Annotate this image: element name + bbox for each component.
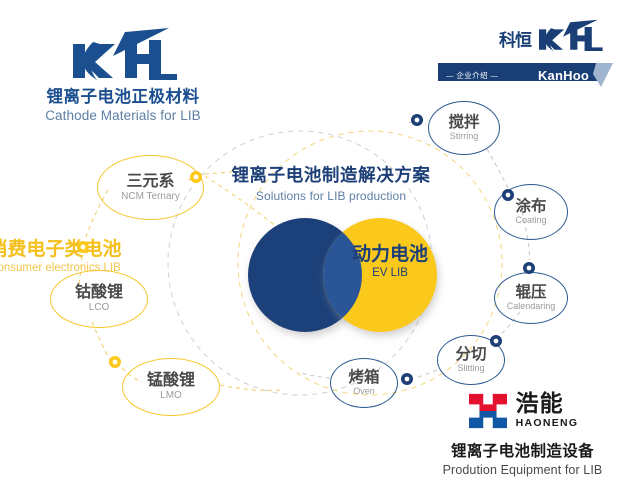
brand-cathode: 锂离子电池正极材料 Cathode Materials for LIB	[28, 26, 218, 124]
node-label-en: Oven	[353, 387, 375, 396]
node-label-en: LCO	[89, 303, 110, 313]
node-label-en: Slitting	[457, 364, 484, 373]
node-process-coating[interactable]: 涂布Coating	[494, 184, 568, 240]
node-label-cn: 搅拌	[448, 115, 479, 131]
venn-label-consumer-cn: 消费电子类电池	[0, 239, 200, 261]
node-label-en: Calendaring	[507, 302, 556, 311]
venn-label-ev-cn: 动力电池	[330, 244, 450, 266]
node-label-cn: 分切	[455, 347, 486, 363]
node-label-en: Coating	[515, 216, 546, 225]
node-label-en: LMO	[160, 391, 182, 401]
page-title-en: Solutions for LIB production	[216, 189, 446, 203]
node-process-stirring[interactable]: 搅拌Stirring	[428, 101, 500, 155]
node-label-en: Stirring	[450, 132, 479, 141]
haoneng-logo-icon	[467, 392, 509, 430]
node-label-cn: 涂布	[515, 199, 546, 215]
node-label-en: NCM Ternary	[121, 192, 180, 202]
brand-cathode-en: Cathode Materials for LIB	[28, 108, 218, 124]
venn-label-ev-en: EV LIB	[330, 267, 450, 281]
haoneng-cn-mark: 浩能	[516, 393, 579, 416]
brand-kanhoo: 科恒 — 企业介绍 — KanHoo	[438, 18, 613, 90]
node-label-cn: 辊压	[515, 285, 546, 301]
node-process-calendaring[interactable]: 辊压Calendaring	[494, 272, 568, 324]
kanhoo-ribbon	[438, 60, 613, 90]
haoneng-logo-row: 浩能 HAONENG	[430, 392, 615, 430]
node-label-cn: 锰酸锂	[147, 373, 195, 389]
haoneng-en-mark: HAONENG	[516, 418, 579, 429]
kanhoo-cn-mark: 科恒	[499, 26, 531, 51]
connector-oven-to-left	[298, 372, 330, 378]
node-material-lmo[interactable]: 锰酸锂LMO	[122, 358, 220, 416]
connector-slitting-to-oven	[415, 370, 437, 378]
brand-haoneng-cn: 锂离子电池制造设备	[430, 439, 615, 461]
connector-title-to-stirring	[409, 122, 426, 124]
node-label-cn: 三元系	[126, 174, 174, 190]
page-title: 锂离子电池制造解决方案 Solutions for LIB production	[216, 162, 446, 203]
node-label-cn: 烤箱	[348, 370, 379, 386]
node-material-lco[interactable]: 钴酸锂LCO	[50, 270, 148, 328]
brand-haoneng: 浩能 HAONENG 锂离子电池制造设备 Prodution Equipment…	[430, 392, 615, 477]
node-label-cn: 钴酸锂	[75, 285, 123, 301]
brand-haoneng-en: Prodution Equipment for LIB	[430, 463, 615, 477]
page-title-cn: 锂离子电池制造解决方案	[216, 162, 446, 187]
node-material-ncm-ternary[interactable]: 三元系NCM Ternary	[97, 155, 204, 220]
node-process-slitting[interactable]: 分切Slitting	[437, 335, 505, 385]
node-process-oven[interactable]: 烤箱Oven	[330, 358, 398, 408]
kh-logo-icon	[63, 26, 183, 84]
haoneng-wordmark: 浩能 HAONENG	[516, 393, 579, 429]
connector-lmo-to-right	[220, 385, 280, 390]
connector-stirring-to-coating	[487, 149, 508, 188]
kanhoo-logo-row: 科恒	[499, 18, 605, 54]
kh-logo-icon-small	[533, 18, 605, 54]
infographic-canvas: 锂离子电池正极材料 Cathode Materials for LIB 科恒 —…	[0, 0, 619, 489]
venn-label-ev: 动力电池 EV LIB	[330, 244, 450, 281]
brand-cathode-cn: 锂离子电池正极材料	[28, 88, 218, 107]
